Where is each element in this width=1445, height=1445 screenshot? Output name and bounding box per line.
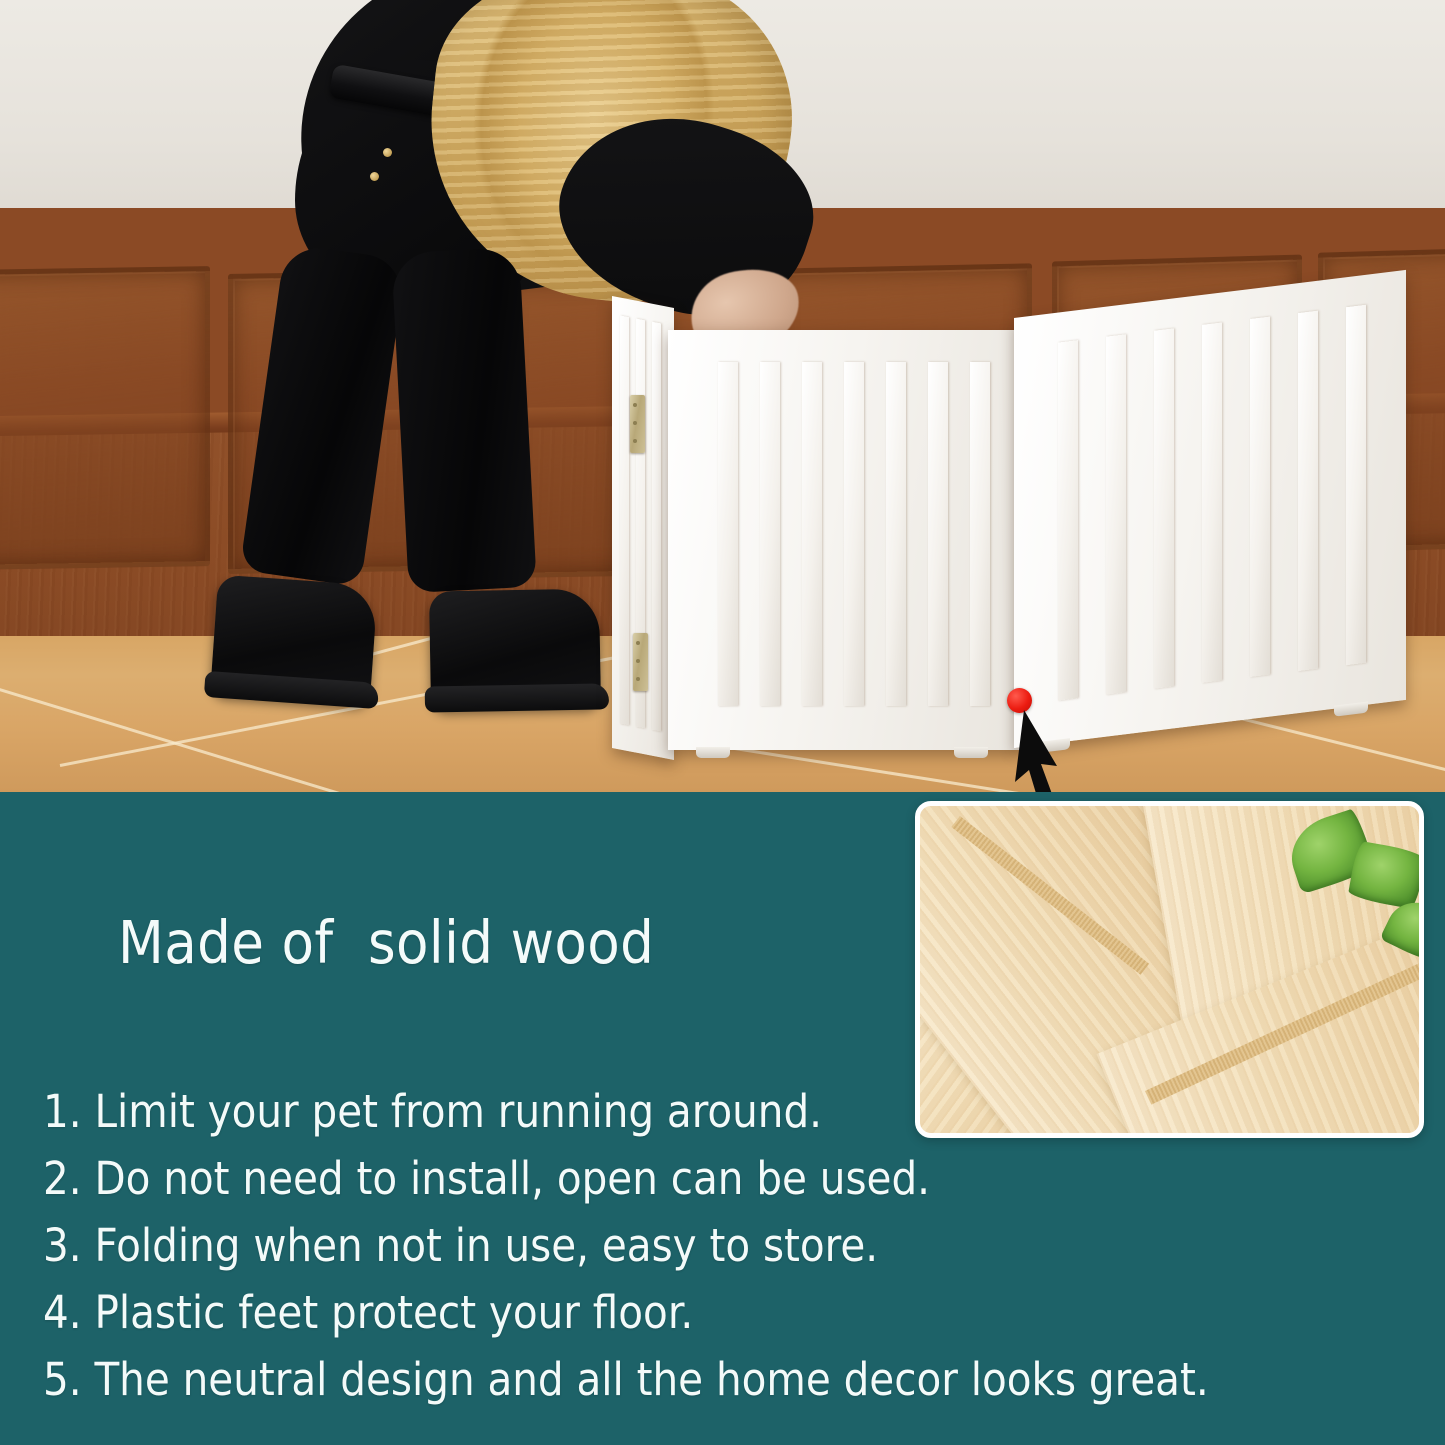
gate-slat <box>1106 334 1126 694</box>
gate-slat <box>1250 317 1270 677</box>
gate-slat <box>620 316 629 726</box>
gate-slat <box>970 362 990 706</box>
feature-item: 4. Plastic feet protect your floor. <box>43 1279 1343 1346</box>
gate-slat <box>1154 328 1174 688</box>
person-leg-front <box>391 247 537 593</box>
feature-item: 5. The neutral design and all the home d… <box>43 1346 1343 1413</box>
gate-slat <box>1346 305 1366 665</box>
product-infographic: Made of solid wood 1. Limit your pet fro… <box>0 0 1445 1445</box>
boot-sole <box>204 671 379 709</box>
gate-panel-right <box>1014 270 1406 748</box>
gate-hinge <box>633 633 648 691</box>
gate-slat <box>1298 311 1318 671</box>
gate-slat <box>652 322 661 732</box>
gate-slat <box>1202 322 1222 682</box>
feature-item: 3. Folding when not in use, easy to stor… <box>43 1212 1343 1279</box>
jean-stud <box>383 148 392 157</box>
hero-photo <box>0 0 1445 792</box>
gate-slat <box>886 362 906 706</box>
wood-closeup-inset <box>915 801 1424 1138</box>
gate-panel-center <box>668 330 1020 750</box>
jean-stud <box>370 172 379 181</box>
gate-slat <box>802 362 822 706</box>
gate-slat <box>844 362 864 706</box>
gate-hinge <box>630 395 645 453</box>
boot-sole <box>425 683 609 712</box>
plastic-foot <box>954 747 988 758</box>
headline: Made of solid wood <box>118 908 654 977</box>
gate-slat <box>1058 340 1078 700</box>
feature-item: 2. Do not need to install, open can be u… <box>43 1145 1343 1212</box>
gate-slat <box>760 362 780 706</box>
plastic-foot <box>696 747 730 758</box>
boot-right <box>429 589 601 710</box>
gate-slat <box>928 362 948 706</box>
boot-left <box>210 575 378 706</box>
gate-slat <box>718 362 738 706</box>
person-leg-back <box>240 243 407 587</box>
callout-arrow <box>985 700 1105 792</box>
